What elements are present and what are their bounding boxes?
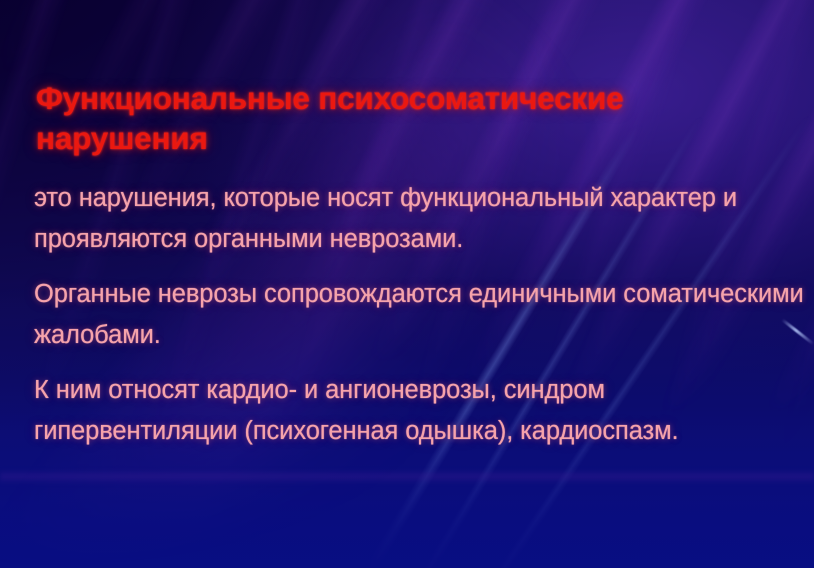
body-paragraph-1: это нарушения, которые носят функциональ… [34, 178, 804, 260]
presentation-slide: Функциональные психосоматические нарушен… [0, 0, 814, 568]
slide-content: Функциональные психосоматические нарушен… [0, 0, 814, 568]
body-paragraph-2: Органные неврозы сопровождаются единичны… [34, 274, 804, 356]
body-paragraph-3: К ним относят кардио- и ангионеврозы, си… [34, 370, 804, 452]
slide-title: Функциональные психосоматические нарушен… [36, 78, 802, 158]
slide-body: это нарушения, которые носят функциональ… [34, 178, 804, 452]
